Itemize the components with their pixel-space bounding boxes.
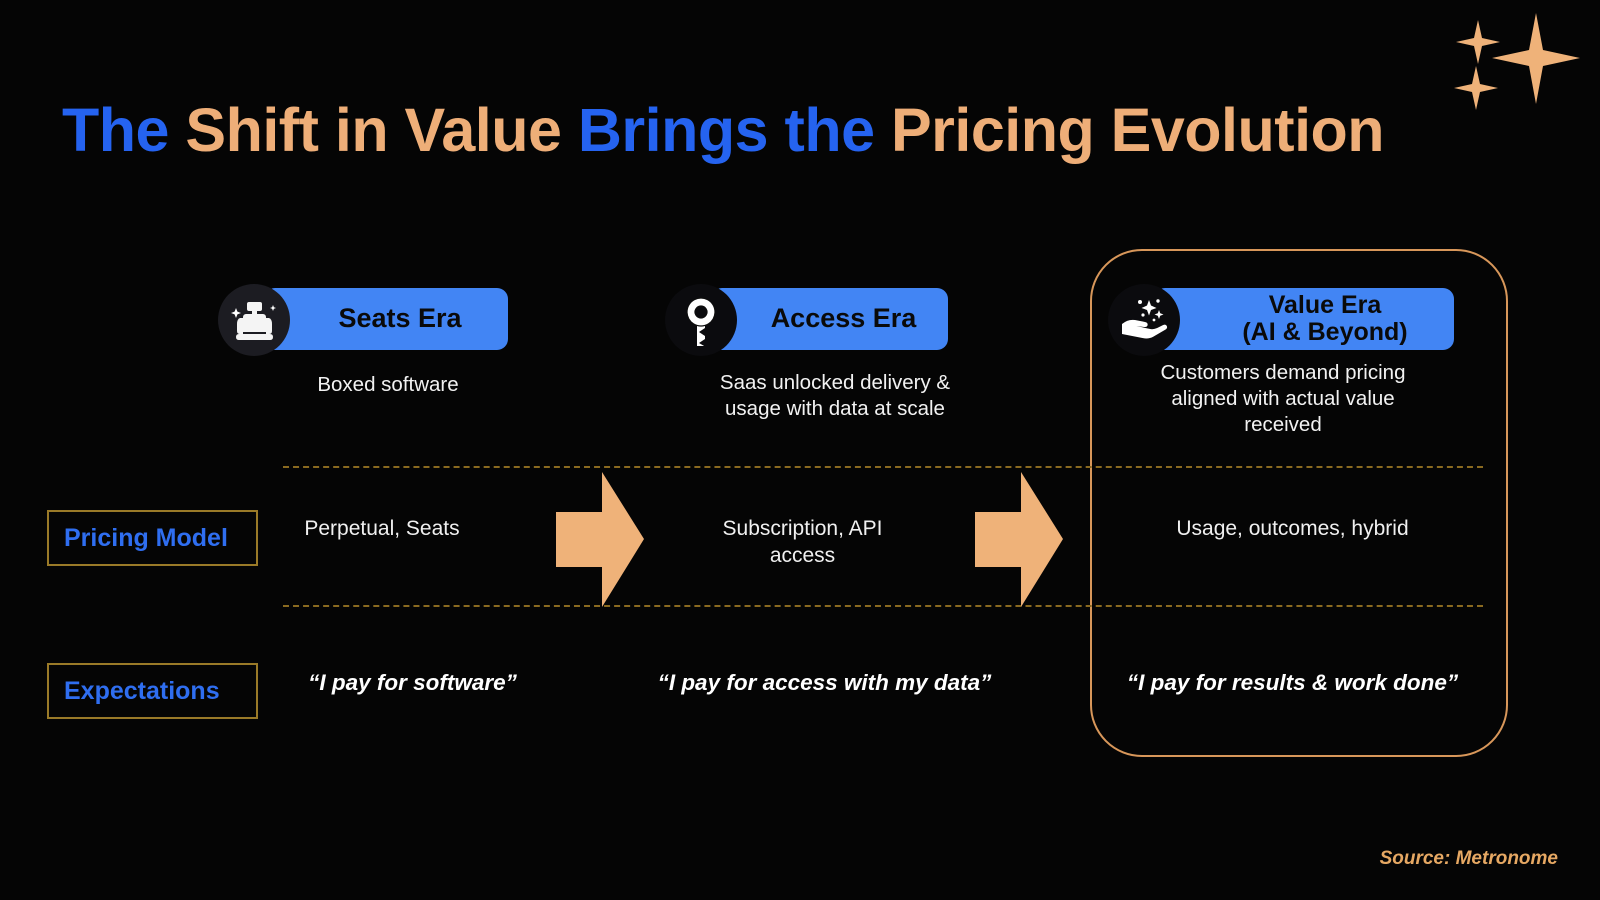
era-label-access: Access Era xyxy=(771,304,917,333)
hand-sparkle-icon xyxy=(1108,284,1180,356)
era-pill-access[interactable]: Access Era xyxy=(711,288,948,350)
row-label-pricing-model-text: Pricing Model xyxy=(64,524,228,553)
page-title: The Shift in Value Brings the Pricing Ev… xyxy=(62,95,1522,165)
title-part-2: Shift in Value xyxy=(185,96,577,164)
expectation-seats: “I pay for software” xyxy=(285,668,540,697)
era-badge-access[interactable]: Access Era xyxy=(665,288,1005,350)
row-label-pricing-model: Pricing Model xyxy=(47,510,258,566)
expectation-value: “I pay for results & work done” xyxy=(1110,668,1475,697)
key-icon xyxy=(665,284,737,356)
slide-canvas: The Shift in Value Brings the Pricing Ev… xyxy=(0,0,1600,900)
title-part-4: Pricing Evolution xyxy=(891,96,1384,164)
era-description-seats: Boxed software xyxy=(218,372,558,398)
row-label-expectations: Expectations xyxy=(47,663,258,719)
era-badge-seats[interactable]: Seats Era xyxy=(218,288,558,350)
era-pill-seats[interactable]: Seats Era xyxy=(264,288,508,350)
row-label-expectations-text: Expectations xyxy=(64,677,220,706)
pricing-model-access: Subscription, API access xyxy=(680,515,925,570)
source-attribution: Source: Metronome xyxy=(1380,848,1558,870)
right-block-arrow-icon xyxy=(556,472,644,607)
car-seat-icon xyxy=(218,284,290,356)
era-label-seats: Seats Era xyxy=(338,304,461,333)
era-column-value: Value Era (AI & Beyond) Customers demand… xyxy=(1108,288,1458,439)
row-divider-top xyxy=(283,466,1483,468)
title-part-3: Brings the xyxy=(578,96,891,164)
era-label-value: Value Era (AI & Beyond) xyxy=(1242,292,1407,346)
era-description-access: Saas unlocked delivery & usage with data… xyxy=(665,370,1005,422)
row-divider-bottom xyxy=(283,605,1483,607)
pricing-model-value: Usage, outcomes, hybrid xyxy=(1120,515,1465,542)
era-column-seats: Seats Era Boxed software xyxy=(218,288,558,398)
expectation-access: “I pay for access with my data” xyxy=(637,668,1012,697)
title-part-1: The xyxy=(62,96,185,164)
era-column-access: Access Era Saas unlocked delivery & usag… xyxy=(665,288,1005,422)
right-block-arrow-icon xyxy=(975,472,1063,607)
pricing-model-seats: Perpetual, Seats xyxy=(283,515,481,542)
era-description-value: Customers demand pricing aligned with ac… xyxy=(1108,360,1458,439)
era-pill-value[interactable]: Value Era (AI & Beyond) xyxy=(1154,288,1454,350)
era-badge-value[interactable]: Value Era (AI & Beyond) xyxy=(1108,288,1458,350)
